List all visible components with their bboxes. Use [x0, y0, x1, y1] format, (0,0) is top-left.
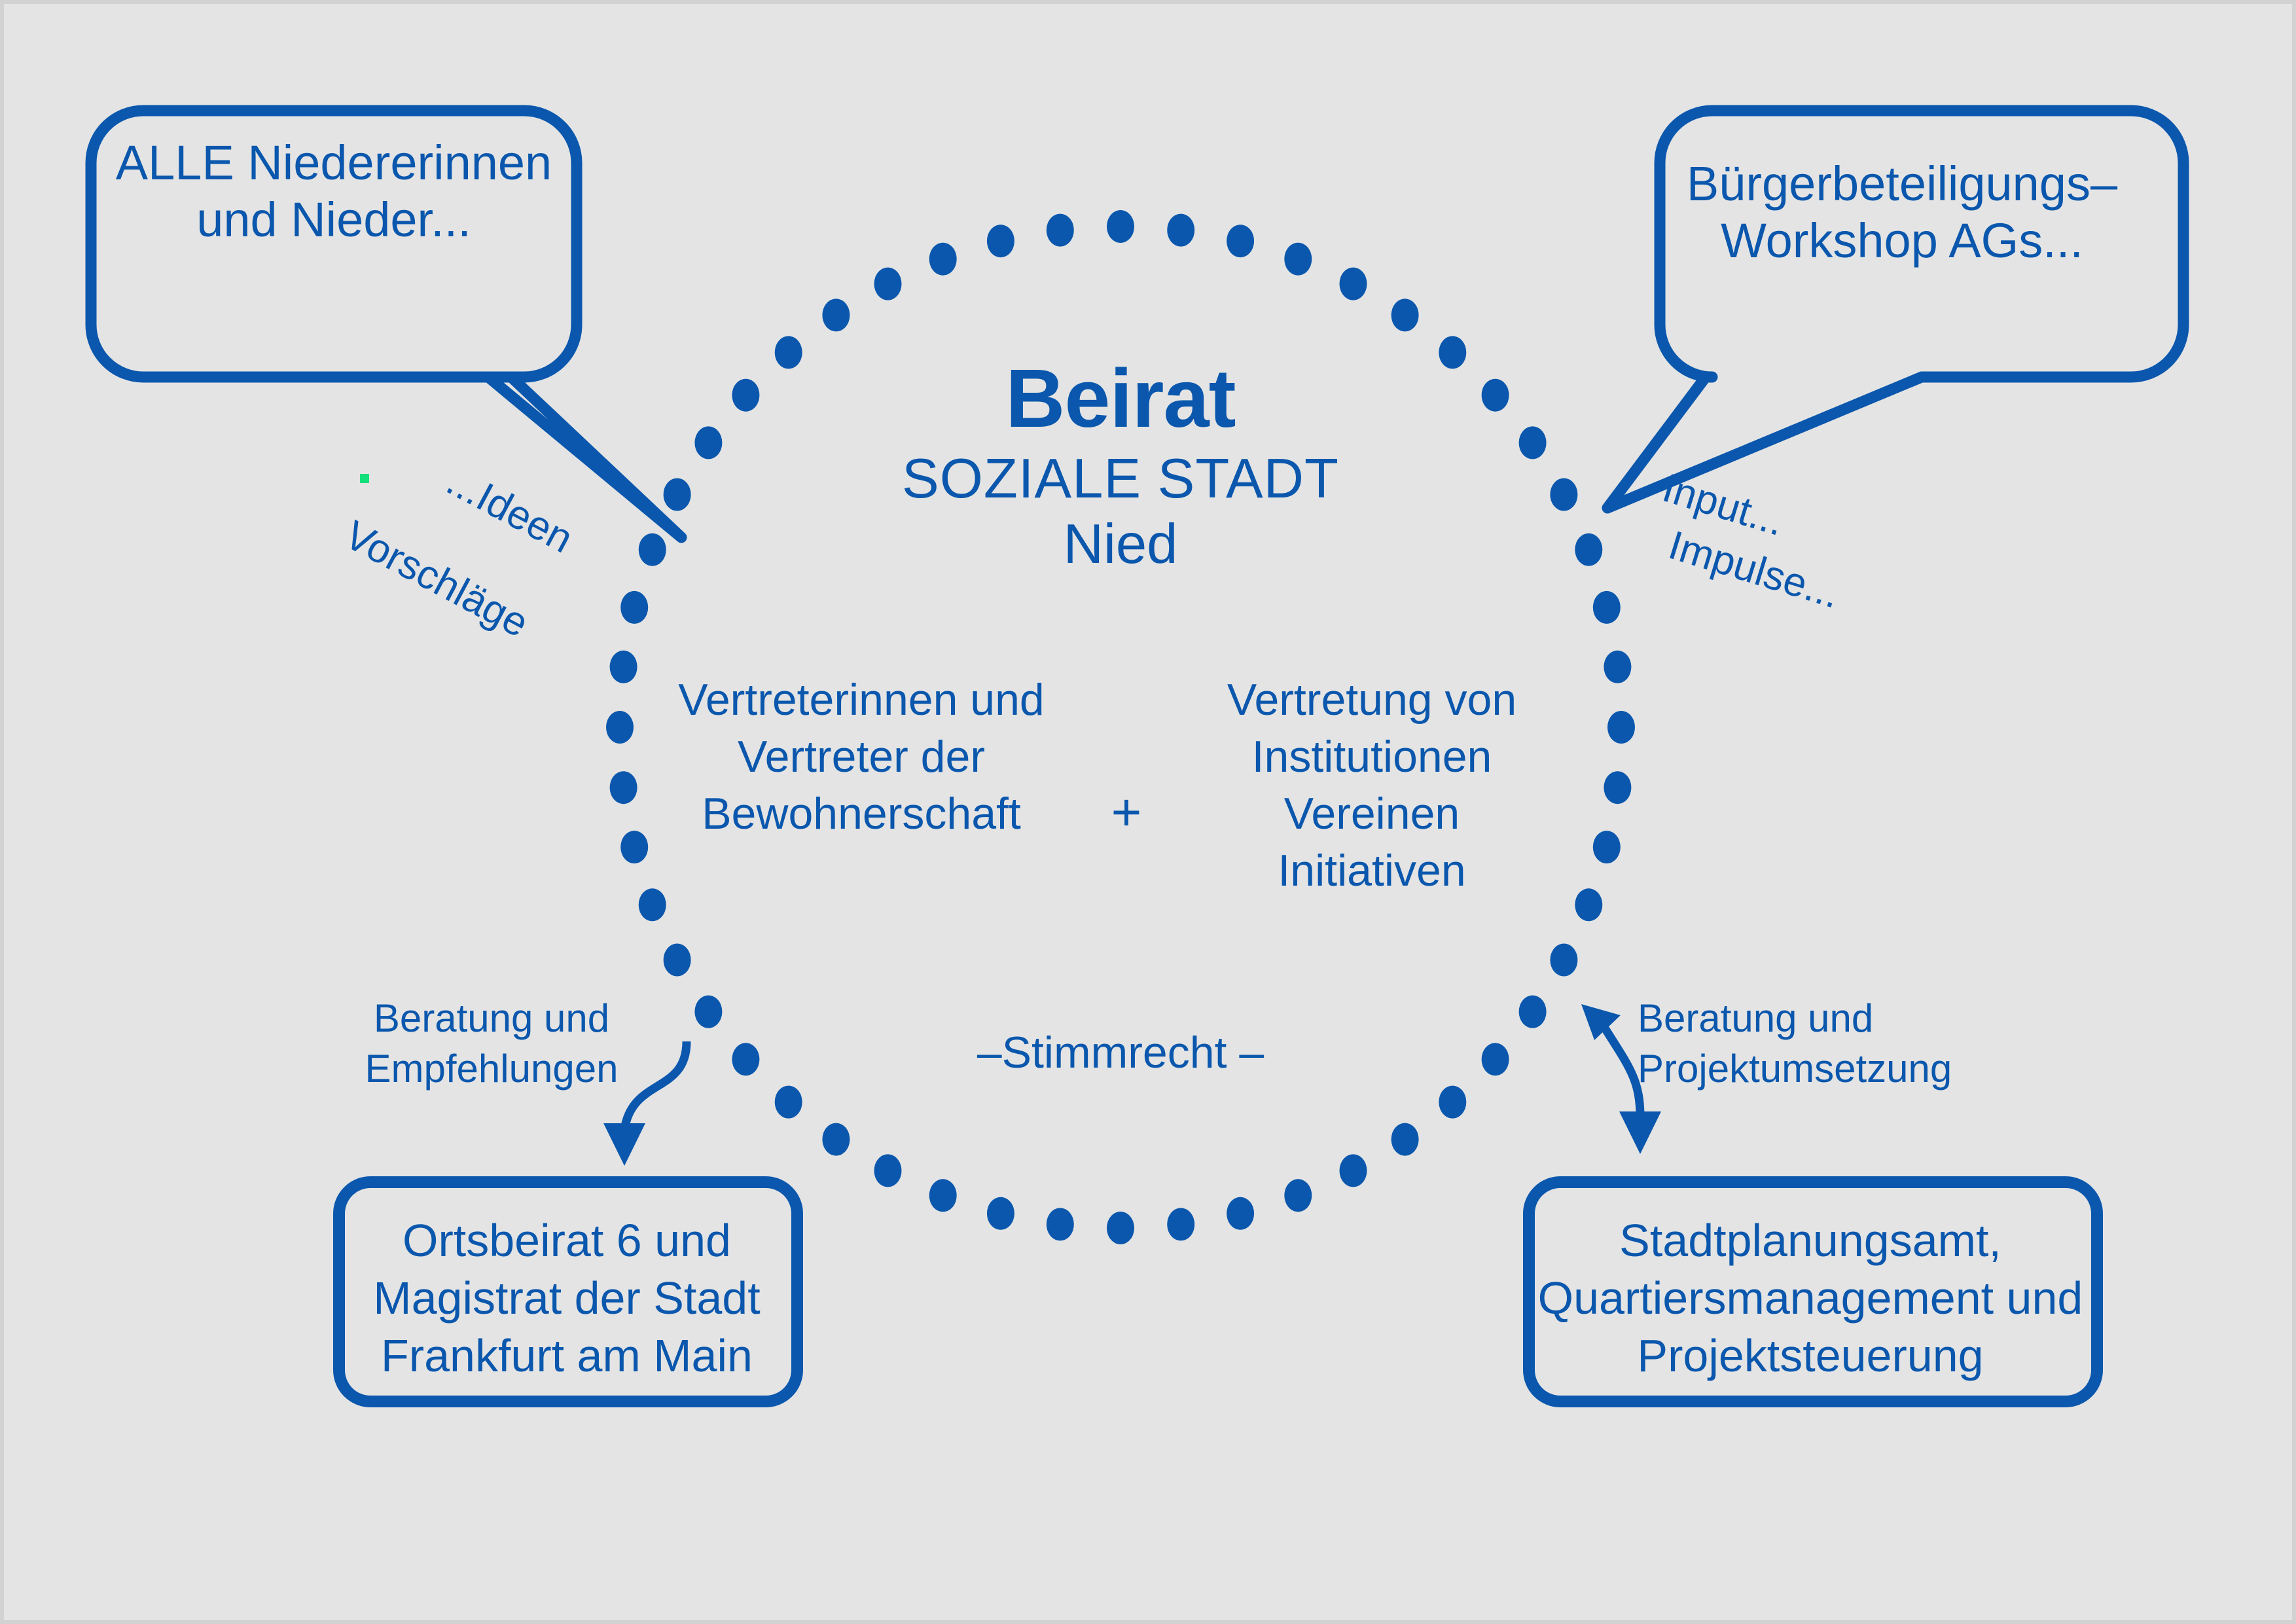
ring-dot: [1604, 771, 1631, 804]
ring-dot: [620, 831, 648, 863]
arrowhead-down-left: [603, 1123, 645, 1166]
arrow-to-stadtplanungsamt: [1601, 1022, 1640, 1117]
ring-dot: [639, 533, 666, 566]
ring-dot: [1284, 1179, 1312, 1212]
ring-dot: [1107, 1212, 1134, 1244]
ring-dot: [929, 1179, 957, 1212]
ring-dot: [1550, 944, 1577, 977]
ring-dot: [1167, 214, 1194, 247]
speech-bubble-right-text: Bürgerbeteiligungs– Workshop AGs...: [1660, 156, 2144, 269]
ring-dot: [1575, 533, 1602, 566]
ring-dot: [987, 1197, 1014, 1230]
ring-dot: [606, 711, 634, 744]
ring-dot: [610, 771, 637, 804]
ring-dot: [1227, 1197, 1254, 1230]
ring-dot: [639, 888, 666, 921]
voting-rights-note: –Stimmrecht –: [891, 1030, 1350, 1075]
speech-bubble-left-text: ALLE Niedererinnen und Nieder...: [91, 135, 577, 248]
label-beratung-und-projektumsetzung: Beratung und Projektumsetzung: [1638, 994, 1952, 1094]
ring-dot: [1550, 478, 1577, 511]
box-ortsbeirat-magistrat-text: Ortsbeirat 6 und Magistrat der Stadt Fra…: [331, 1212, 802, 1385]
ring-dot: [1604, 651, 1631, 683]
plus-icon: +: [1087, 786, 1166, 839]
ring-dot: [987, 225, 1014, 257]
members-column-institutions: Vertretung von Institutionen Vereinen In…: [1195, 672, 1549, 899]
ring-dot: [1439, 1086, 1466, 1119]
ring-dot: [1340, 268, 1367, 300]
ring-dot: [1593, 591, 1621, 624]
location-label: Nied: [728, 512, 1513, 577]
ring-dot: [1391, 1123, 1419, 1156]
ring-dot: [1167, 1208, 1194, 1240]
ring-dot: [1575, 888, 1602, 921]
arrowhead-down-right: [1619, 1111, 1661, 1154]
ring-dot: [874, 1154, 902, 1187]
ring-dot: [620, 591, 648, 624]
ring-dot: [1593, 831, 1621, 863]
ring-dot: [664, 478, 691, 511]
ring-dot: [1519, 426, 1547, 459]
ring-dot: [1391, 298, 1419, 331]
ring-dot: [1047, 214, 1074, 247]
label-beratung-und-empfehlungen: Beratung und Empfehlungen: [351, 994, 632, 1094]
ring-dot: [1340, 1154, 1367, 1187]
ring-dot: [929, 243, 957, 276]
program-subtitle: SOZIALE STADT: [728, 446, 1513, 512]
ring-dot: [775, 1086, 802, 1119]
ring-dot: [822, 298, 850, 331]
ring-dot: [610, 651, 637, 683]
arrow-to-ortsbeirat: [624, 1041, 687, 1130]
ring-dot: [1047, 1208, 1074, 1240]
ring-dot: [874, 268, 902, 300]
diagram-canvas: ALLE Niedererinnen und Nieder... Bürgerb…: [0, 0, 2296, 1624]
ring-dot: [1519, 996, 1547, 1028]
ring-dot: [1107, 210, 1134, 243]
ring-dot: [664, 944, 691, 977]
ring-dot: [822, 1123, 850, 1156]
ring-dot: [1482, 1043, 1509, 1075]
page-title: Beirat: [728, 357, 1513, 440]
ring-dot: [694, 996, 722, 1028]
ring-dot: [694, 426, 722, 459]
arrowhead-up-right: [1581, 1004, 1621, 1040]
ring-dot: [732, 1043, 759, 1075]
circle-title-block: Beirat SOZIALE STADT Nied: [728, 357, 1513, 578]
green-marker-icon: [360, 474, 369, 483]
box-stadtplanungsamt-text: Stadtplanungsamt, Quartiersmanagement un…: [1529, 1212, 2092, 1385]
ring-dot: [1607, 711, 1635, 744]
members-column-residents: Vertreterinnen und Vertreter der Bewohne…: [665, 672, 1058, 842]
ring-dot: [1284, 243, 1312, 276]
ring-dot: [1227, 225, 1254, 257]
